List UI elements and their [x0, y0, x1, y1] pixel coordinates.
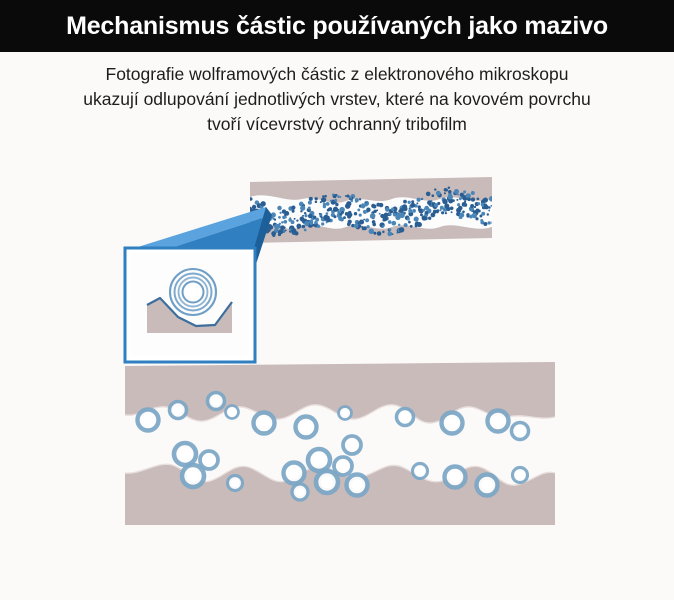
- speckle-dot: [412, 209, 416, 213]
- speckle-dot: [363, 226, 367, 230]
- speckle-dot: [480, 219, 483, 222]
- speckle-dot: [296, 224, 301, 229]
- speckle-dot: [279, 223, 281, 225]
- speckle-dot: [370, 213, 375, 218]
- speckle-dot: [351, 200, 354, 203]
- speckle-dot: [475, 217, 478, 220]
- speckle-dot: [388, 220, 392, 224]
- upper-interface-particle: [208, 393, 225, 410]
- speckle-dot: [363, 219, 365, 221]
- speckle-dot: [328, 207, 332, 211]
- speckle-dot: [490, 205, 492, 207]
- speckle-dot: [481, 212, 485, 216]
- speckle-dot: [379, 203, 383, 207]
- speckle-dot: [491, 220, 496, 225]
- upper-interface-particle: [397, 409, 414, 426]
- speckle-dot: [448, 190, 452, 194]
- speckle-dot: [291, 220, 295, 224]
- speckle-dot: [448, 187, 450, 189]
- speckle-dot: [408, 201, 411, 204]
- speckle-dot: [304, 212, 306, 214]
- lower-interface-particle: [477, 475, 498, 496]
- speckle-dot: [431, 194, 434, 197]
- speckle-dot: [359, 221, 362, 224]
- speckle-dot: [373, 210, 376, 213]
- speckle-dot: [474, 206, 476, 208]
- speckle-dot: [391, 221, 396, 226]
- speckle-dot: [373, 232, 376, 235]
- subtitle-line-1: Fotografie wolframových částic z elektro…: [18, 62, 656, 87]
- speckle-dot: [428, 217, 431, 220]
- cluster-particle: [182, 465, 204, 487]
- speckle-dot: [402, 204, 407, 209]
- upper-interface-particle: [296, 417, 317, 438]
- speckle-dot: [247, 197, 249, 199]
- speckle-dot: [441, 211, 444, 214]
- speckle-dot: [483, 222, 487, 226]
- speckle-dot: [477, 202, 480, 205]
- subtitle-block: Fotografie wolframových částic z elektro…: [0, 62, 674, 137]
- speckle-dot: [349, 196, 352, 199]
- cluster-particle: [334, 457, 352, 475]
- speckle-dot: [359, 198, 361, 200]
- speckle-dot: [347, 215, 351, 219]
- speckle-dot: [466, 213, 469, 216]
- speckle-dot: [300, 205, 305, 210]
- speckle-dot: [391, 207, 394, 210]
- speckle-dot: [309, 197, 313, 201]
- cluster-particle: [316, 471, 338, 493]
- speckle-dot: [457, 203, 460, 206]
- speckle-dot: [464, 203, 468, 207]
- speckle-dot: [249, 197, 252, 200]
- speckle-dot: [361, 226, 363, 228]
- speckle-dot: [387, 231, 392, 236]
- speckle-dot: [365, 218, 369, 222]
- speckle-dot: [330, 200, 332, 202]
- speckle-dot: [292, 210, 295, 213]
- magnified-detail-callout[interactable]: [125, 248, 255, 362]
- speckle-dot: [274, 218, 276, 220]
- speckle-dot: [261, 201, 266, 206]
- speckle-dot: [369, 229, 374, 234]
- speckle-dot: [354, 224, 359, 229]
- speckle-dot: [268, 225, 273, 230]
- speckle-dot: [411, 203, 416, 208]
- illustration-svg: [0, 155, 674, 555]
- speckle-dot: [335, 194, 337, 196]
- speckle-dot: [391, 211, 393, 213]
- speckle-dot: [424, 208, 426, 210]
- speckle-dot: [487, 213, 489, 215]
- speckle-dot: [452, 199, 455, 202]
- speckle-dot: [348, 220, 352, 224]
- speckle-dot: [281, 221, 283, 223]
- cluster-particle: [343, 436, 361, 454]
- speckle-dot: [272, 234, 275, 237]
- speckle-dot: [326, 212, 329, 215]
- speckle-dot: [308, 207, 311, 210]
- speckle-dot: [407, 217, 410, 220]
- upper-interface-particle: [339, 407, 352, 420]
- speckle-dot: [420, 213, 423, 216]
- speckle-dot: [363, 210, 367, 214]
- lower-interface-particle: [513, 468, 528, 483]
- speckle-dot: [304, 214, 307, 217]
- speckle-dot: [326, 218, 331, 223]
- speckle-dot: [410, 225, 413, 228]
- speckle-dot: [437, 202, 440, 205]
- speckle-dot: [408, 209, 412, 213]
- speckle-dot: [451, 211, 453, 213]
- speckle-dot: [308, 214, 313, 219]
- speckle-dot: [489, 196, 495, 202]
- speckle-dot: [321, 222, 324, 225]
- speckle-dot: [383, 216, 388, 221]
- lower-interface-particle: [284, 463, 305, 484]
- speckle-dot: [444, 192, 446, 194]
- speckle-dot: [277, 206, 281, 210]
- speckle-dot: [304, 229, 307, 232]
- speckle-dot: [364, 203, 368, 207]
- speckle-dot: [354, 212, 357, 215]
- speckle-dot: [283, 220, 287, 224]
- speckle-dot: [379, 222, 384, 227]
- speckle-dot: [317, 225, 320, 228]
- page-title: Mechanismus částic používaných jako mazi…: [66, 12, 608, 41]
- speckle-dot: [448, 194, 453, 199]
- speckle-dot: [294, 231, 298, 235]
- speckle-dot: [315, 218, 319, 222]
- speckle-dot: [320, 216, 322, 218]
- cluster-particle: [308, 449, 330, 471]
- speckle-dot: [484, 203, 486, 205]
- speckle-dot: [366, 208, 370, 212]
- speckle-dot: [398, 224, 400, 226]
- speckle-dot: [334, 199, 337, 202]
- lower-interface-particle: [347, 475, 368, 496]
- speckle-dot: [335, 203, 338, 206]
- speckle-dot: [463, 190, 466, 193]
- speckle-dot: [389, 228, 392, 231]
- upper-interface-particle: [254, 413, 275, 434]
- speckle-dot: [382, 231, 384, 233]
- speckle-dot: [484, 205, 488, 209]
- speckle-dot: [464, 201, 466, 203]
- speckle-dot: [483, 198, 488, 203]
- speckle-dot: [252, 205, 256, 209]
- speckle-dot: [425, 211, 428, 214]
- speckle-dot: [403, 200, 407, 204]
- speckle-dot: [476, 209, 480, 213]
- speckle-dot: [440, 206, 443, 209]
- infographic-root: Mechanismus částic používaných jako mazi…: [0, 0, 674, 600]
- subtitle-line-3: tvoří vícevrstvý ochranný tribofilm: [18, 112, 656, 137]
- speckle-dot: [357, 208, 360, 211]
- speckle-dot: [392, 233, 394, 235]
- speckle-dot: [315, 197, 318, 200]
- speckle-dot: [442, 199, 447, 204]
- upper-interface-particle: [512, 423, 529, 440]
- speckle-dot: [477, 198, 480, 201]
- speckle-dot: [372, 220, 376, 224]
- speckle-dot: [408, 221, 411, 224]
- speckle-dot: [322, 195, 324, 197]
- speckle-dot: [421, 198, 423, 200]
- upper-interface-particle: [488, 411, 509, 432]
- upper-interface-particle: [442, 413, 463, 434]
- speckle-dot: [388, 213, 390, 215]
- speckle-dot: [426, 192, 431, 197]
- speckle-dot: [280, 225, 285, 230]
- cluster-particle: [200, 451, 218, 469]
- speckle-dot: [445, 212, 447, 214]
- speckle-dot: [312, 224, 315, 227]
- speckle-dot: [459, 213, 464, 218]
- speckle-dot: [445, 189, 448, 192]
- speckle-dot: [341, 211, 344, 214]
- speckle-dot: [302, 225, 306, 229]
- speckle-dot: [470, 204, 474, 208]
- speckle-dot: [345, 195, 347, 197]
- speckle-dot: [343, 216, 346, 219]
- speckle-dot: [399, 227, 404, 232]
- speckle-dot: [450, 207, 454, 211]
- speckle-dot: [324, 195, 327, 198]
- lower-interface-particle: [413, 464, 428, 479]
- speckle-dot: [321, 197, 326, 202]
- electron-microscope-sample-band: [247, 177, 496, 243]
- speckle-dot: [437, 209, 440, 212]
- speckle-dot: [471, 191, 475, 195]
- speckle-dot: [403, 212, 405, 214]
- speckle-dot: [434, 188, 436, 190]
- speckle-dot: [458, 206, 463, 211]
- speckle-dot: [294, 218, 296, 220]
- speckle-dot: [291, 206, 295, 210]
- speckle-dot: [418, 205, 421, 208]
- speckle-dot: [372, 204, 376, 208]
- speckle-dot: [436, 191, 441, 196]
- speckle-dot: [367, 225, 370, 228]
- speckle-dot: [355, 198, 359, 202]
- speckle-dot: [323, 203, 326, 206]
- speckle-dot: [462, 211, 465, 214]
- subtitle-line-2: ukazují odlupování jednotlivých vrstev, …: [18, 87, 656, 112]
- speckle-dot: [404, 223, 408, 227]
- speckle-dot: [414, 217, 419, 222]
- cluster-particle: [292, 484, 308, 500]
- speckle-dot: [488, 206, 491, 209]
- speckle-dot: [472, 199, 474, 201]
- illustration-stage: [0, 155, 674, 555]
- speckle-dot: [332, 193, 334, 195]
- speckle-dot: [326, 202, 330, 206]
- header-band: Mechanismus částic používaných jako mazi…: [0, 0, 674, 52]
- speckle-dot: [296, 219, 298, 221]
- speckle-dot: [459, 197, 462, 200]
- speckle-dot: [346, 195, 349, 198]
- speckle-dot: [488, 221, 491, 224]
- speckle-dot: [377, 231, 382, 236]
- speckle-dot: [278, 216, 281, 219]
- speckle-dot: [417, 198, 421, 202]
- speckle-dot: [309, 219, 313, 223]
- speckle-dot: [488, 210, 490, 212]
- speckle-dot: [339, 196, 341, 198]
- speckle-dot: [284, 214, 286, 216]
- speckle-dot: [334, 215, 337, 218]
- speckle-dot: [382, 225, 384, 227]
- speckle-dot: [416, 202, 418, 204]
- speckle-dot: [454, 189, 459, 194]
- speckle-dot: [285, 216, 287, 218]
- speckle-dot: [467, 197, 471, 201]
- lower-interface-particle: [228, 476, 243, 491]
- speckle-dot: [359, 214, 362, 217]
- lower-interface-particle: [445, 467, 466, 488]
- speckle-dot: [302, 215, 304, 217]
- speckle-dot: [285, 230, 287, 232]
- speckle-dot: [456, 199, 458, 201]
- cluster-particle: [174, 443, 196, 465]
- upper-interface-particle: [170, 402, 187, 419]
- speckle-dot: [279, 212, 281, 214]
- speckle-dot: [379, 213, 381, 215]
- upper-interface-particle: [226, 406, 239, 419]
- speckle-dot: [457, 194, 459, 196]
- speckle-dot: [308, 201, 312, 205]
- upper-metal-surface: [125, 362, 555, 440]
- speckle-dot: [446, 207, 450, 211]
- upper-interface-particle: [138, 410, 159, 431]
- speckle-dot: [345, 203, 350, 208]
- speckle-dot: [304, 221, 309, 226]
- speckle-dot: [315, 201, 318, 204]
- speckle-dot: [417, 222, 422, 227]
